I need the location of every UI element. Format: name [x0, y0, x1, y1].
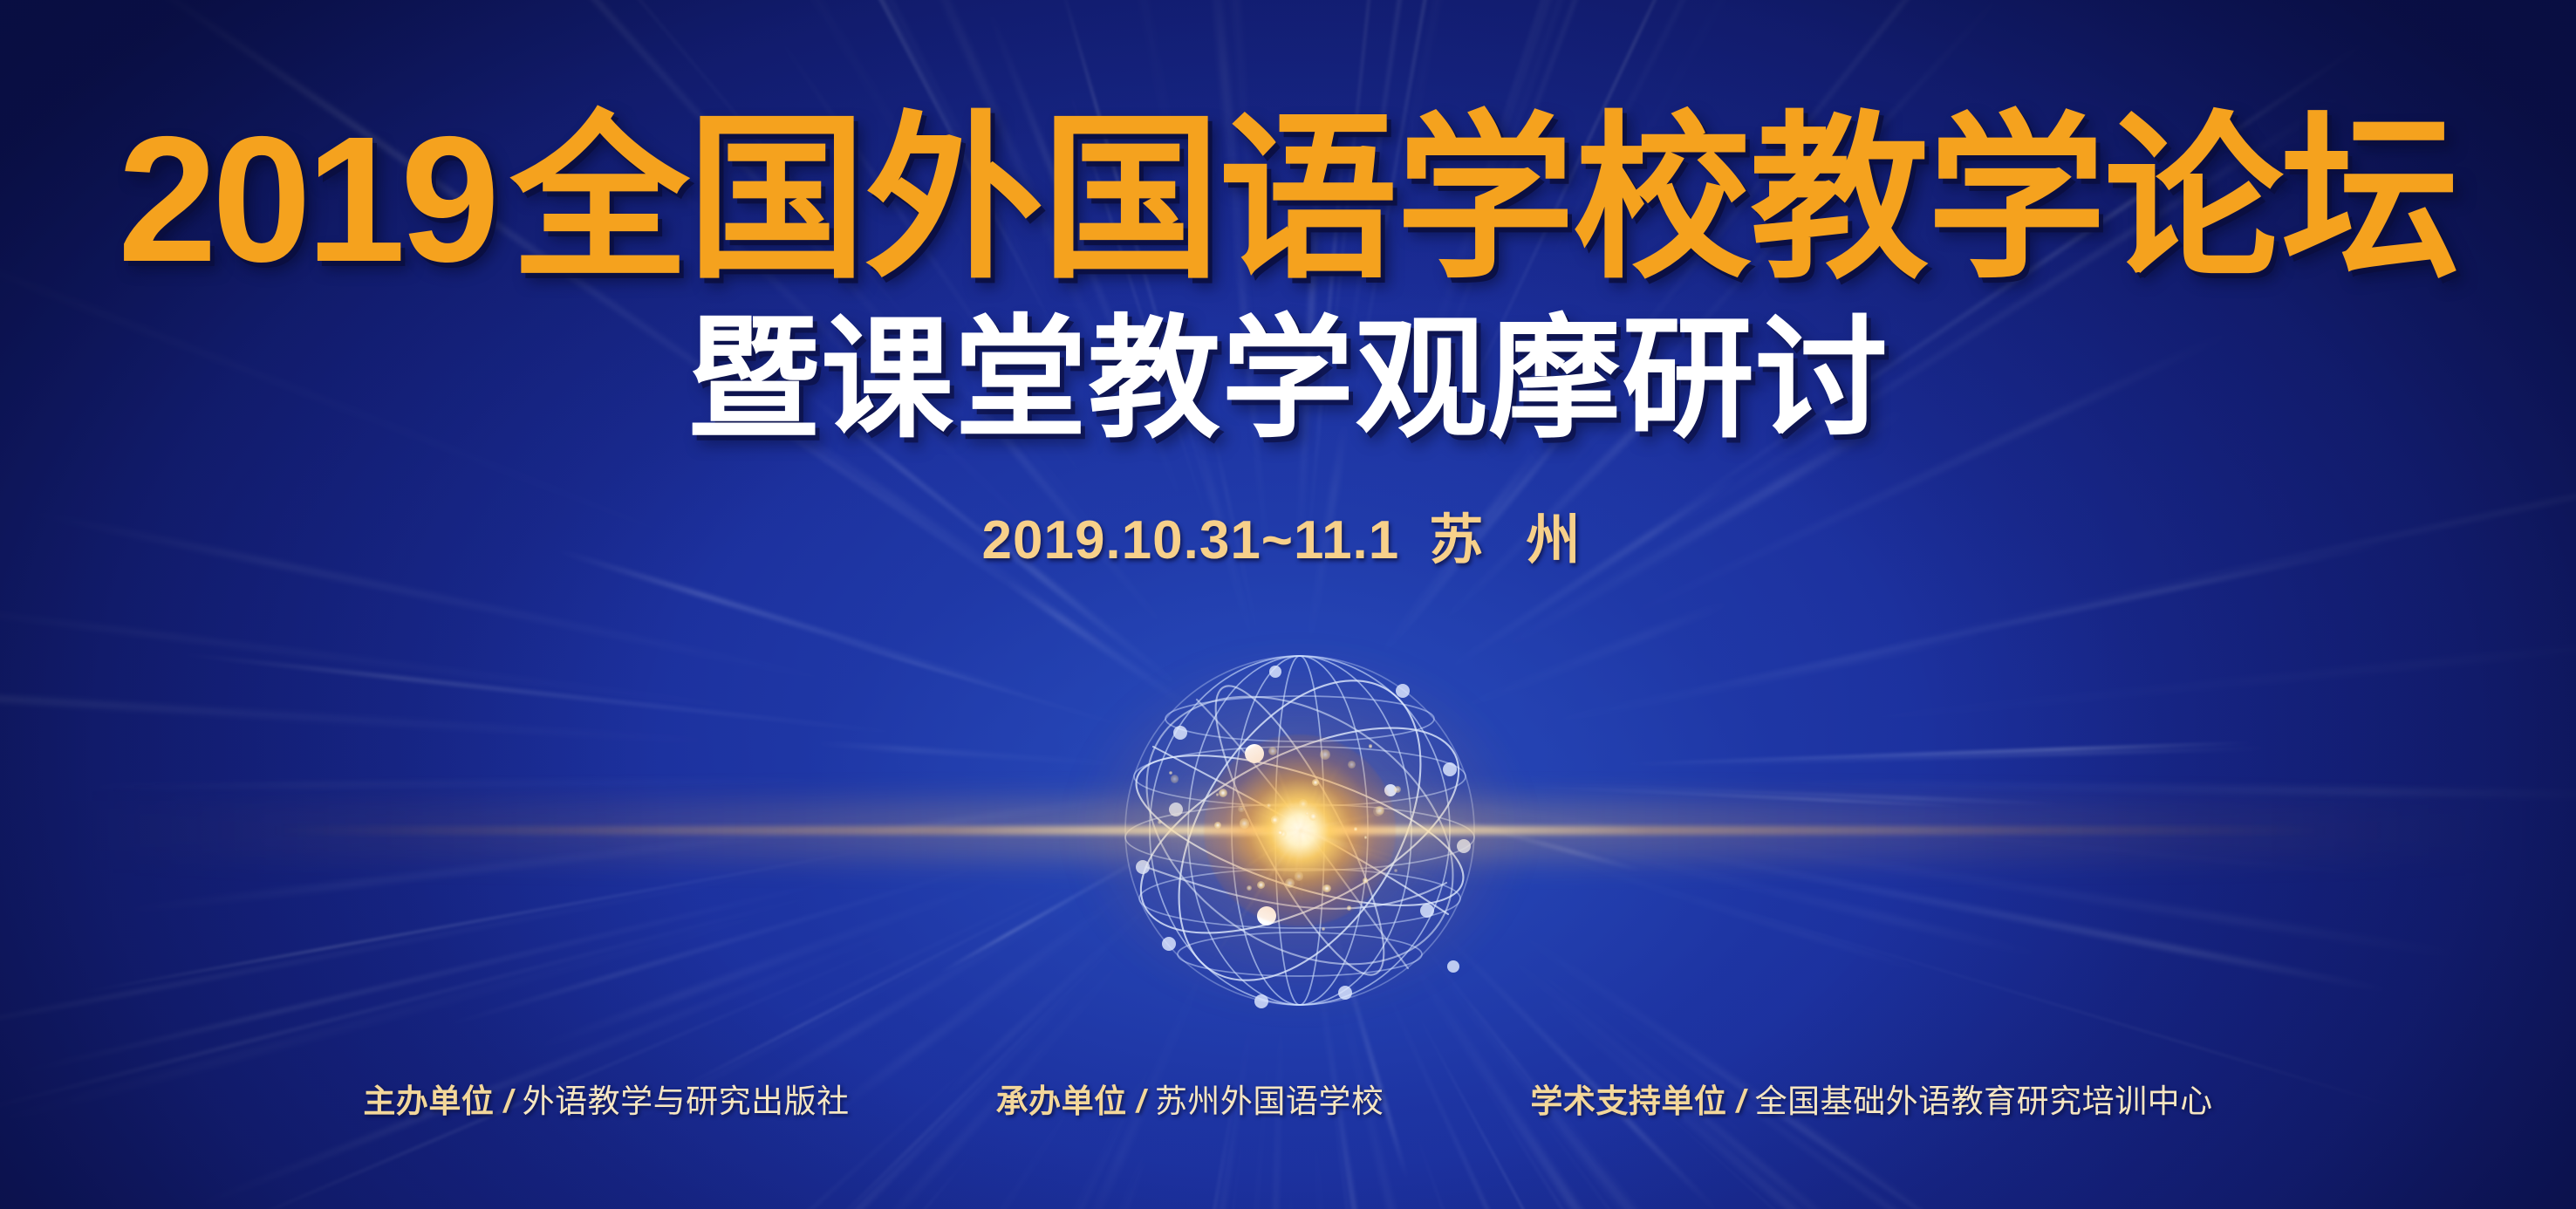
organizer-value: 苏州外国语学校 [1155, 1075, 1384, 1122]
event-date-location: 2019.10.31~11.1苏 州 [0, 495, 2576, 574]
organizer-host: 主办单位 / 外语教学与研究出版社 [363, 1075, 849, 1122]
title-year: 2019 [118, 99, 495, 299]
poster-content: 2019全国外国语学校教学论坛 暨课堂教学观摩研讨 2019.10.31~11.… [0, 0, 2576, 1209]
page-subtitle: 暨课堂教学观摩研讨 [0, 307, 2576, 453]
event-dates: 2019.10.31~11.1 [982, 510, 1400, 570]
organizer-separator: / [1736, 1083, 1745, 1120]
organizer-label: 主办单位 [363, 1075, 494, 1122]
organizer-separator: / [1137, 1083, 1145, 1120]
organizer-label: 承办单位 [996, 1075, 1127, 1122]
organizer-separator: / [503, 1083, 512, 1120]
event-city: 苏 州 [1429, 510, 1594, 570]
organizer-academic-support: 学术支持单位 / 全国基础外语教育研究培训中心 [1530, 1075, 2212, 1122]
organizer-label: 学术支持单位 [1530, 1075, 1726, 1122]
page-title: 2019全国外国语学校教学论坛 [0, 103, 2576, 296]
title-text: 全国外国语学校教学论坛 [510, 99, 2458, 299]
organizer-footer: 主办单位 / 外语教学与研究出版社 承办单位 / 苏州外国语学校 学术支持单位 … [0, 1075, 2576, 1122]
conference-poster: 2019全国外国语学校教学论坛 暨课堂教学观摩研讨 2019.10.31~11.… [0, 0, 2576, 1209]
organizer-co-host: 承办单位 / 苏州外国语学校 [996, 1075, 1384, 1122]
organizer-value: 全国基础外语教育研究培训中心 [1755, 1075, 2213, 1122]
organizer-value: 外语教学与研究出版社 [523, 1075, 850, 1122]
